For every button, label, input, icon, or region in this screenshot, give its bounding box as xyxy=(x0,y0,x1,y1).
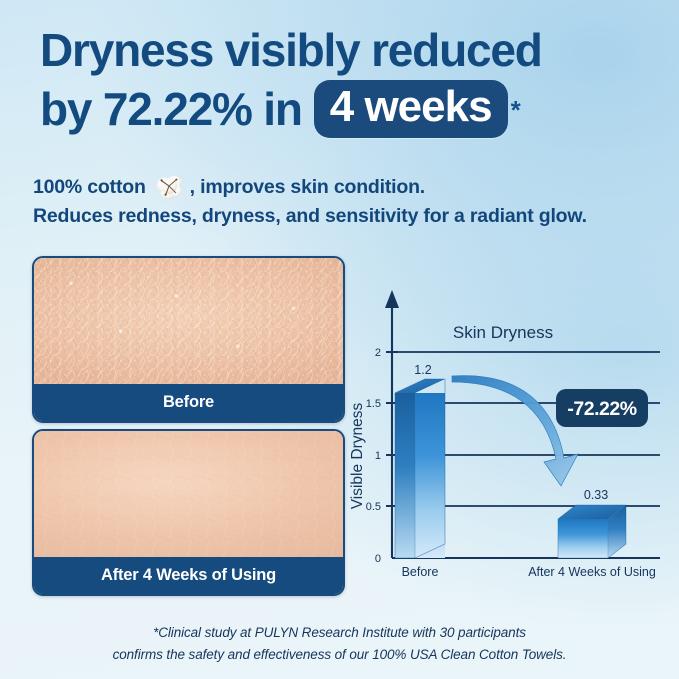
ytick-1.5: 1.5 xyxy=(366,398,381,410)
headline-line-1: Dryness visibly reduced xyxy=(40,22,650,78)
headline: Dryness visibly reduced by 72.22% in 4 w… xyxy=(40,22,650,138)
footnote-line-2: confirms the safety and effectiveness of… xyxy=(40,644,639,666)
after-photo xyxy=(34,431,343,557)
weeks-badge: 4 weeks xyxy=(314,80,508,138)
subtitle-line-1: 100% cotton xyxy=(33,172,653,202)
ytick-1: 1 xyxy=(375,450,381,462)
subtitle-text-after-icon: , improves skin condition. xyxy=(190,173,425,202)
y-axis-arrow-icon xyxy=(385,290,399,308)
xtick-label-after: After 4 Weeks of Using xyxy=(528,565,656,579)
bar-before-value-label: 1.2 xyxy=(414,363,431,377)
reduction-badge-label: -72.22% xyxy=(567,398,636,420)
subtitle-text-before-icon: 100% cotton xyxy=(33,173,146,202)
before-caption: Before xyxy=(34,384,343,421)
footnote-line-1: *Clinical study at PULYN Research Instit… xyxy=(40,622,639,644)
before-photo xyxy=(34,258,343,384)
after-photo-panel: After 4 Weeks of Using xyxy=(32,429,345,596)
subtitle: 100% cotton xyxy=(33,172,653,231)
bar-after-value-label: 0.33 xyxy=(584,488,608,502)
ytick-0.5: 0.5 xyxy=(366,501,381,513)
chart-y-axis-label: Visible Dryness xyxy=(349,402,366,509)
headline-line-2: by 72.22% in 4 weeks * xyxy=(40,80,650,138)
asterisk-marker: * xyxy=(511,82,520,138)
headline-line-2-prefix: by 72.22% in xyxy=(40,81,302,137)
skin-dryness-bar-chart: 0 0.5 1 1.5 2 Visible Dryness Skin Dryne… xyxy=(348,286,668,586)
chart-y-tick-labels: 0 0.5 1 1.5 2 xyxy=(366,347,381,565)
ytick-0: 0 xyxy=(375,553,381,565)
bar-before xyxy=(395,379,445,558)
promotional-infographic: Dryness visibly reduced by 72.22% in 4 w… xyxy=(0,0,679,679)
bar-after xyxy=(558,505,626,558)
xtick-label-before: Before xyxy=(402,565,439,579)
ytick-2: 2 xyxy=(375,347,381,359)
chart-title: Skin Dryness xyxy=(453,323,553,342)
after-caption: After 4 Weeks of Using xyxy=(34,557,343,594)
reduction-badge: -72.22% xyxy=(556,389,648,427)
cotton-boll-icon xyxy=(153,172,187,202)
before-photo-panel: Before xyxy=(32,256,345,423)
subtitle-line-2: Reduces redness, dryness, and sensitivit… xyxy=(33,202,653,231)
footnote: *Clinical study at PULYN Research Instit… xyxy=(40,622,639,666)
